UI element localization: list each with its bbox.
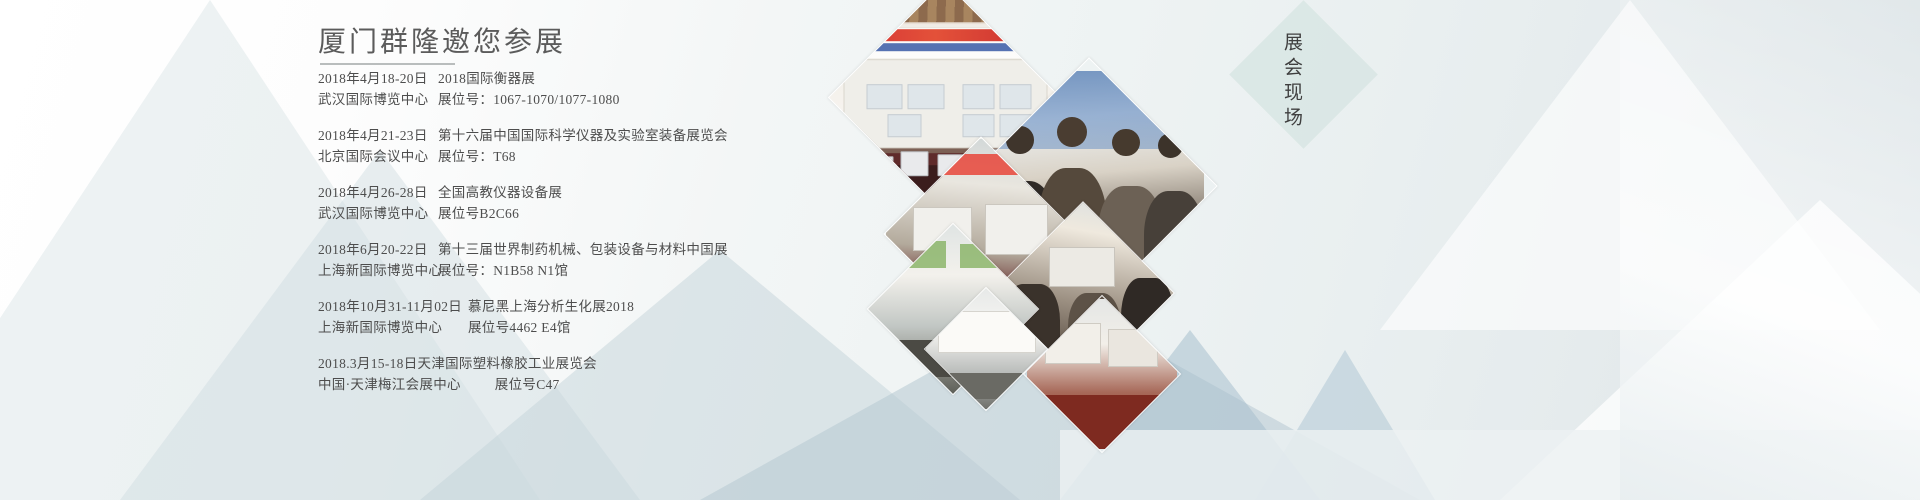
event-booth: 展位号4462 E4馆 xyxy=(468,317,571,338)
event-line-primary: 2018.3月15-18日天津国际塑料橡胶工业展览会 xyxy=(318,353,858,374)
event-venue: 中国·天津梅江会展中心 xyxy=(318,374,461,395)
photo-collage xyxy=(830,0,1250,500)
list-item: 2018年6月20-22日 第十三届世界制药机械、包装设备与材料中国展 上海新国… xyxy=(318,239,858,281)
background-facet xyxy=(1380,0,1880,330)
photo-booth-sign xyxy=(848,26,1041,57)
list-item: 2018.3月15-18日天津国际塑料橡胶工业展览会 中国·天津梅江会展中心 展… xyxy=(318,353,858,395)
event-venue: 上海新国际博览中心 xyxy=(318,260,438,281)
photo-detail xyxy=(1027,395,1177,449)
event-line-primary: 2018年4月18-20日 2018国际衡器展 xyxy=(318,68,858,89)
event-line-primary: 2018年4月21-23日 第十六届中国国际科学仪器及实验室装备展览会 xyxy=(318,125,858,146)
photo-detail xyxy=(963,114,995,137)
event-name: 第十三届世界制药机械、包装设备与材料中国展 xyxy=(438,239,728,260)
photo-detail xyxy=(862,155,894,175)
event-date: 2018年4月18-20日 xyxy=(318,68,438,89)
event-line-secondary: 上海新国际博览中心 展位号4462 E4馆 xyxy=(318,317,858,338)
event-date: 2018年4月21-23日 xyxy=(318,125,438,146)
photo-detail xyxy=(950,373,1022,399)
event-date: 2018年4月26-28日 xyxy=(318,182,438,203)
vertical-label: 展会现场 xyxy=(1279,32,1305,132)
event-booth: 展位号B2C66 xyxy=(438,203,519,224)
event-name: 慕尼黑上海分析生化展2018 xyxy=(468,296,634,317)
photo-detail xyxy=(1000,84,1032,109)
event-booth: 展位号：N1B58 N1馆 xyxy=(438,260,568,281)
event-line-secondary: 北京国际会议中心 展位号：T68 xyxy=(318,146,858,167)
list-item: 2018年10月31-11月02日 慕尼黑上海分析生化展2018 上海新国际博览… xyxy=(318,296,858,338)
background-facet xyxy=(1500,200,1920,500)
event-line-secondary: 中国·天津梅江会展中心 展位号C47 xyxy=(318,374,858,395)
exhibition-banner: 厦门群隆邀您参展 2018年4月18-20日 2018国际衡器展 武汉国际博览中… xyxy=(0,0,1920,500)
event-line-primary: 2018年4月26-28日 全国高教仪器设备展 xyxy=(318,182,858,203)
event-line-secondary: 武汉国际博览中心 展位号B2C66 xyxy=(318,203,858,224)
event-venue: 武汉国际博览中心 xyxy=(318,203,438,224)
photo-detail xyxy=(963,84,995,109)
event-venue: 上海新国际博览中心 xyxy=(318,317,468,338)
background-facet xyxy=(1255,350,1435,500)
event-booth: 展位号C47 xyxy=(495,374,560,395)
event-venue: 武汉国际博览中心 xyxy=(318,89,438,110)
spacer xyxy=(461,374,495,395)
event-booth: 展位号：T68 xyxy=(438,146,516,167)
photo-detail xyxy=(1049,247,1116,287)
photo-detail xyxy=(856,28,1034,41)
event-name: 第十六届中国国际科学仪器及实验室装备展览会 xyxy=(438,125,728,146)
event-line-secondary: 武汉国际博览中心 展位号：1067-1070/1077-1080 xyxy=(318,89,858,110)
list-item: 2018年4月18-20日 2018国际衡器展 武汉国际博览中心 展位号：106… xyxy=(318,68,858,110)
page-title: 厦门群隆邀您参展 xyxy=(318,20,566,60)
event-line-primary: 2018年6月20-22日 第十三届世界制药机械、包装设备与材料中国展 xyxy=(318,239,858,260)
event-date: 2018年6月20-22日 xyxy=(318,239,438,260)
background-facet xyxy=(1620,0,1920,500)
photo-detail xyxy=(830,0,1060,22)
event-date: 2018.3月15-18日天津国际塑料橡胶工业展览会 xyxy=(318,353,597,374)
photo-detail xyxy=(1108,329,1158,367)
event-venue: 北京国际会议中心 xyxy=(318,146,438,167)
list-item: 2018年4月26-28日 全国高教仪器设备展 武汉国际博览中心 展位号B2C6… xyxy=(318,182,858,224)
title-underline xyxy=(320,63,455,65)
event-name: 2018国际衡器展 xyxy=(438,68,535,89)
event-line-secondary: 上海新国际博览中心 展位号：N1B58 N1馆 xyxy=(318,260,858,281)
photo-detail xyxy=(1112,129,1140,157)
photo-detail xyxy=(901,151,928,176)
event-name: 全国高教仪器设备展 xyxy=(438,182,562,203)
photo-detail xyxy=(908,84,945,109)
event-list: 2018年4月18-20日 2018国际衡器展 武汉国际博览中心 展位号：106… xyxy=(318,68,858,410)
event-line-primary: 2018年10月31-11月02日 慕尼黑上海分析生化展2018 xyxy=(318,296,858,317)
photo-detail xyxy=(866,84,903,109)
photo-detail xyxy=(1057,117,1087,147)
photo-detail xyxy=(887,114,921,137)
event-booth: 展位号：1067-1070/1077-1080 xyxy=(438,89,620,110)
text-column: 厦门群隆邀您参展 2018年4月18-20日 2018国际衡器展 武汉国际博览中… xyxy=(0,0,860,500)
event-date: 2018年10月31-11月02日 xyxy=(318,296,468,317)
photo-detail xyxy=(871,43,1018,51)
list-item: 2018年4月21-23日 第十六届中国国际科学仪器及实验室装备展览会 北京国际… xyxy=(318,125,858,167)
photo-detail xyxy=(1158,133,1183,158)
